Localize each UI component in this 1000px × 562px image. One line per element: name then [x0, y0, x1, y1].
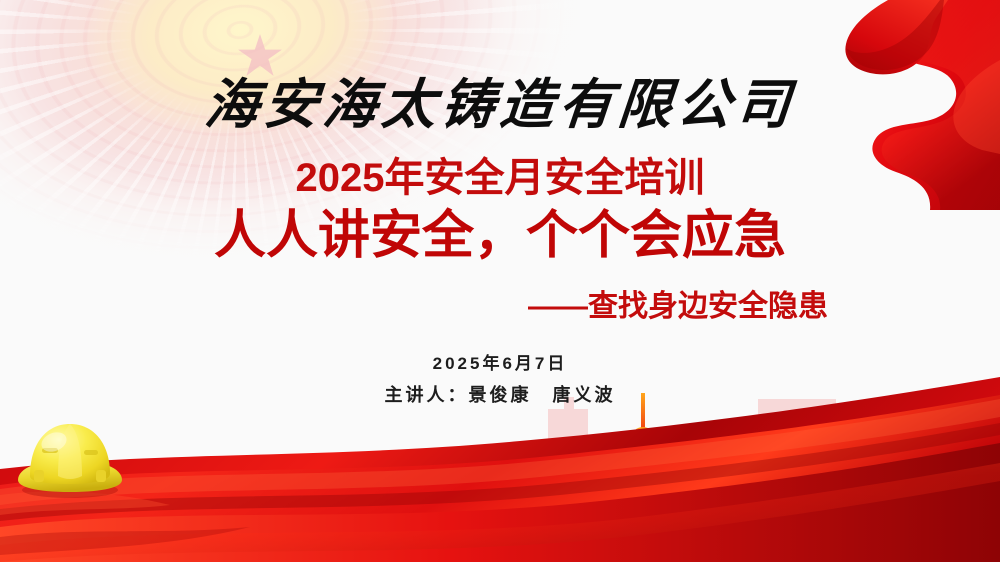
- presenter-names: 主讲人：景俊康 唐义波: [0, 386, 1000, 404]
- jin-mao-tower: [800, 429, 836, 562]
- oriental-pearl-tower: [623, 393, 663, 562]
- world-financial-center: [744, 435, 784, 562]
- presentation-slide: 海安海太铸造有限公司 2025年安全月安全培训 人人讲安全，个个会应急 ——查找…: [0, 0, 1000, 562]
- presentation-date: 2025年6月7日: [0, 355, 1000, 372]
- training-title: 2025年安全月安全培训: [0, 158, 1000, 198]
- city-skyline-icon: [0, 387, 1000, 562]
- slogan-subtitle: ——查找身边安全隐患: [0, 292, 1000, 322]
- stadium-structure: [556, 519, 644, 547]
- five-pointed-star-icon: [238, 34, 282, 78]
- safety-helmet-icon: [8, 410, 128, 500]
- safety-slogan: 人人讲安全，个个会应急: [0, 207, 1000, 265]
- company-name: 海安海太铸造有限公司: [0, 78, 1000, 132]
